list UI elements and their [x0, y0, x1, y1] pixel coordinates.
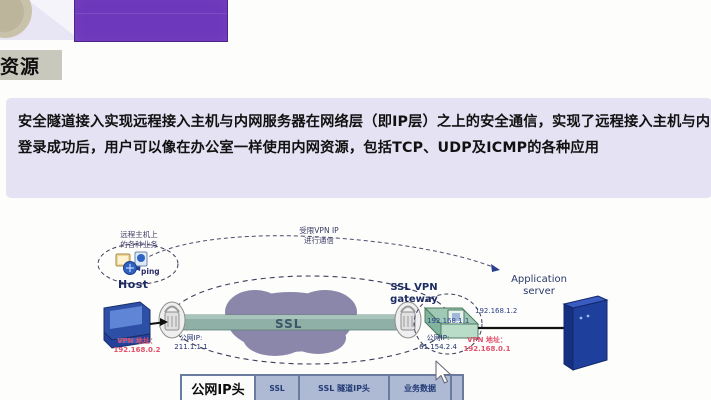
label-application-server: Application server	[497, 274, 581, 298]
label-public-ip-left: 公网IP: 211.1.1.1	[161, 334, 221, 352]
label-ssl-vpn-gateway: SSL VPN gateway	[376, 282, 452, 306]
label-vpn-address-right: VPN 地址： 192.168.0.1	[452, 336, 522, 354]
right-gateway-icon	[395, 302, 421, 338]
vpn-path-arrow-right	[491, 264, 500, 272]
network-diagram: 远程主机上 的各种业务 ping Host VPN 地址： 192.168.0.…	[0, 212, 711, 400]
label-ssl-cloud: SSL	[275, 317, 302, 331]
description-text: 安全隧道接入实现远程接入主机与内网服务器在网络层（即IP层）之上的安全通信，实现…	[18, 109, 711, 161]
panel-triangle-accent	[28, 0, 80, 40]
label-ip-gateway-inner: 192.168.1.1	[427, 317, 469, 325]
label-ip-server: 192.168.1.2	[475, 307, 517, 315]
label-ping: ping	[141, 267, 160, 276]
packet-cell-public-ip-header: 公网IP头	[182, 376, 256, 400]
packet-cell-ssl: SSL	[256, 376, 300, 400]
packet-cell-tunnel-ip-header: SSL 隧道IP头	[300, 376, 390, 400]
section-tag: 资源	[0, 50, 62, 80]
label-tunnel-top: 受限VPN IP 进行通信	[259, 226, 379, 245]
mouse-cursor	[434, 360, 454, 386]
packet-structure-table: 公网IP头 SSL SSL 隧道IP头 业务数据	[180, 374, 464, 400]
purple-title-block	[74, 0, 228, 42]
top-strip	[0, 0, 711, 40]
label-remote-services: 远程主机上 的各种业务	[96, 230, 182, 249]
description-banner: 安全隧道接入实现远程接入主机与内网服务器在网络层（即IP层）之上的安全通信，实现…	[6, 98, 711, 198]
label-host: Host	[118, 278, 149, 291]
slide-canvas: 资源 安全隧道接入实现远程接入主机与内网服务器在网络层（即IP层）之上的安全通信…	[0, 0, 711, 400]
section-tag-label: 资源	[0, 52, 40, 79]
application-server-icon	[564, 296, 607, 370]
